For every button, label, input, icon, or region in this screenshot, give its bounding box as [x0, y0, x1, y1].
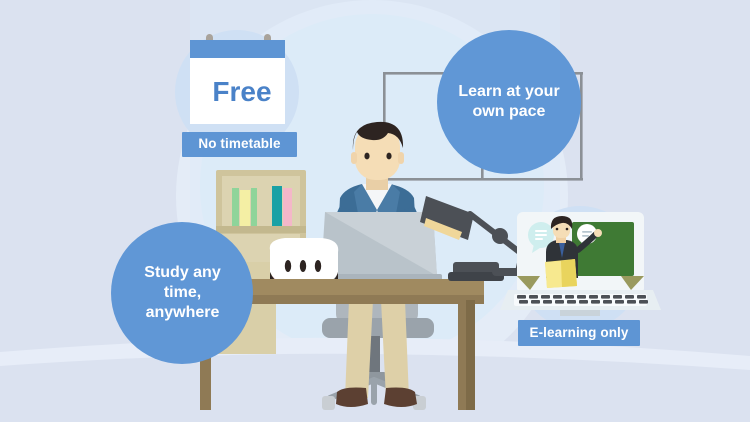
- calendar-header: [190, 40, 285, 58]
- shoe-left: [336, 388, 368, 408]
- book-5: [283, 188, 292, 226]
- shoe-right: [384, 388, 417, 408]
- bubble-text-learn-at-your-own-pace: Learn at your own pace: [436, 62, 582, 142]
- bubble-text-study-any-time-anywhere: Study any time, anywhere: [116, 248, 249, 338]
- book-4: [272, 186, 282, 226]
- illustration-canvas: Free No timetable E-learning only Learn …: [0, 0, 750, 422]
- badge-e-learning-only: E-learning only: [518, 320, 640, 346]
- badge-no-timetable: No timetable: [182, 132, 297, 157]
- book-2: [240, 190, 250, 226]
- eye-right: [386, 153, 391, 160]
- book-1: [232, 188, 239, 226]
- calendar-free-text: Free: [196, 62, 288, 122]
- eye-left: [364, 153, 369, 160]
- book-3: [251, 188, 257, 226]
- scene-vector: [0, 0, 750, 422]
